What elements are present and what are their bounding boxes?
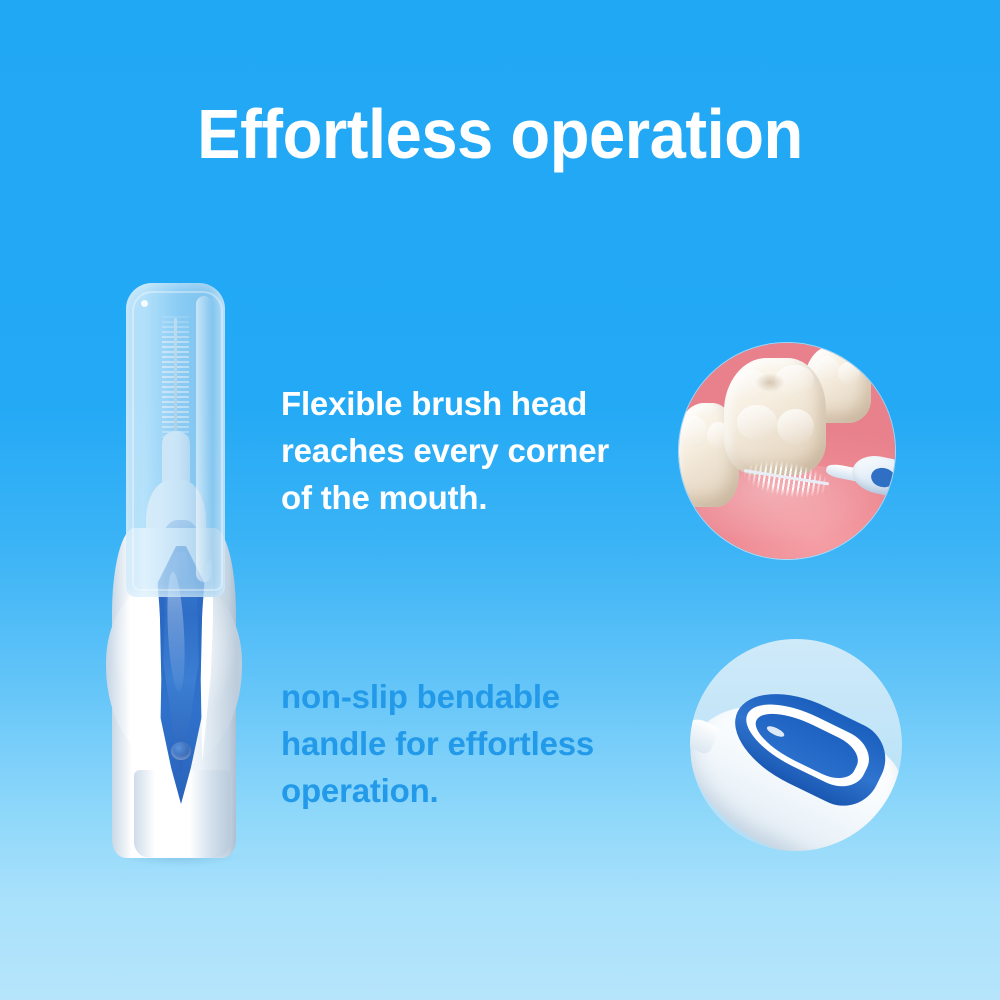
tooth-groove	[755, 373, 785, 392]
tooth-cusp	[737, 405, 778, 440]
feature-caption-non-slip-handle: non-slip bendable handle for effortless …	[281, 673, 681, 814]
caption-line: operation.	[281, 767, 681, 814]
tooth-cusp	[777, 409, 814, 444]
caption-line: handle for effortless	[281, 720, 681, 767]
inset-photo-teeth-cleaning	[679, 343, 895, 559]
caption-line: Flexible brush head	[281, 380, 681, 427]
feature-caption-flexible-brush-head: Flexible brush head reaches every corner…	[281, 380, 681, 521]
tooth-molar-center	[724, 358, 826, 475]
caption-line: reaches every corner	[281, 427, 681, 474]
grip-thumb-dot	[171, 742, 191, 760]
inset-photo-handle-closeup	[690, 639, 902, 851]
product-feature-banner: Effortless operation Flexible brush head	[0, 0, 1000, 1000]
cap-gloss	[196, 296, 212, 582]
tooth-cusp	[815, 356, 839, 381]
caption-line: non-slip bendable	[281, 673, 681, 720]
tooth-cusp	[682, 416, 707, 447]
caption-line: of the mouth.	[281, 474, 681, 521]
tooth-cusp	[838, 362, 861, 384]
cap-specular-dot	[141, 300, 148, 307]
